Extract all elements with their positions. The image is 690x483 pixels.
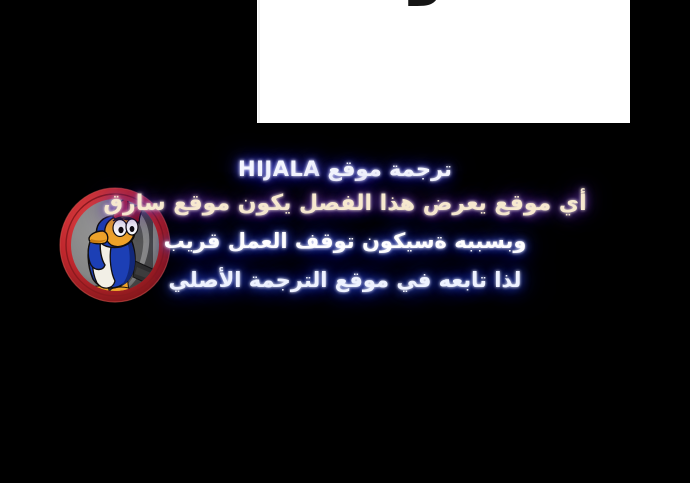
credit-line-translation-site: ترجمة موقع HIJALA [0, 152, 690, 186]
credits-text-block: ترجمة موقع HIJALA أي موقع يعرض هذا الفصل… [0, 152, 690, 300]
page-panel-edge [258, 0, 260, 123]
credit-line-theft-warning: أي موقع يعرض هذا الفصل يكون موقع سارق [0, 186, 690, 222]
screenshot-canvas: D [0, 0, 690, 483]
credit-line-work-stoppage-notice: وبسببه ةسيكون توقف العمل قريب [0, 222, 690, 260]
cropped-letter-glyph: D [404, 0, 438, 9]
credit-line-follow-original: لذا تابعه في موقع الترجمة الأصلي [0, 260, 690, 300]
comic-page-panel: D [257, 0, 630, 123]
